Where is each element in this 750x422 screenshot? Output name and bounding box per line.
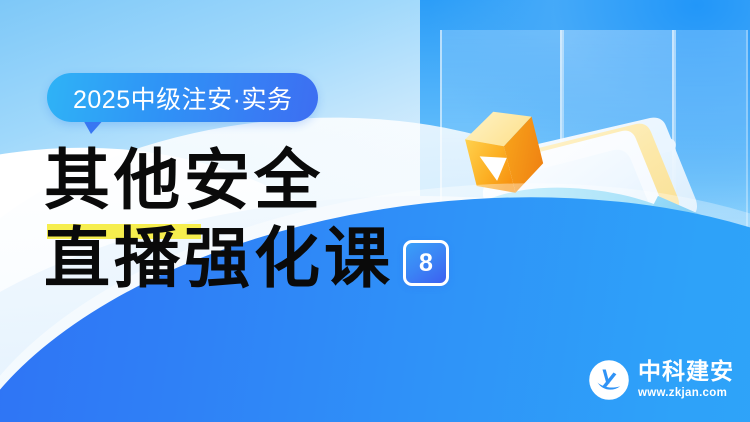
brand-name: 中科建安 [638,359,734,384]
headline-block: 其他安全 直播强化课 8 [44,146,464,296]
headline-row-1: 其他安全 [44,146,464,218]
course-tag-pill: 2025中级注安·实务 [47,73,318,122]
headline-line-1: 其他安全 [44,146,324,218]
course-promo-banner: 2025中级注安·实务 其他安全 直播强化课 8 中科建安 www.zkjan.… [0,0,750,422]
course-tag-label: 2025中级注安·实务 [73,80,292,116]
episode-number-badge: 8 [403,240,449,286]
brand-logo: 中科建安 www.zkjan.com [589,359,734,400]
headline-line-2: 直播强化课 [44,224,394,296]
brand-url: www.zkjan.com [638,386,734,400]
zkjan-circle-logo-icon [589,360,629,400]
brand-text-block: 中科建安 www.zkjan.com [638,359,734,400]
headline-row-2: 直播强化课 8 [44,224,464,296]
